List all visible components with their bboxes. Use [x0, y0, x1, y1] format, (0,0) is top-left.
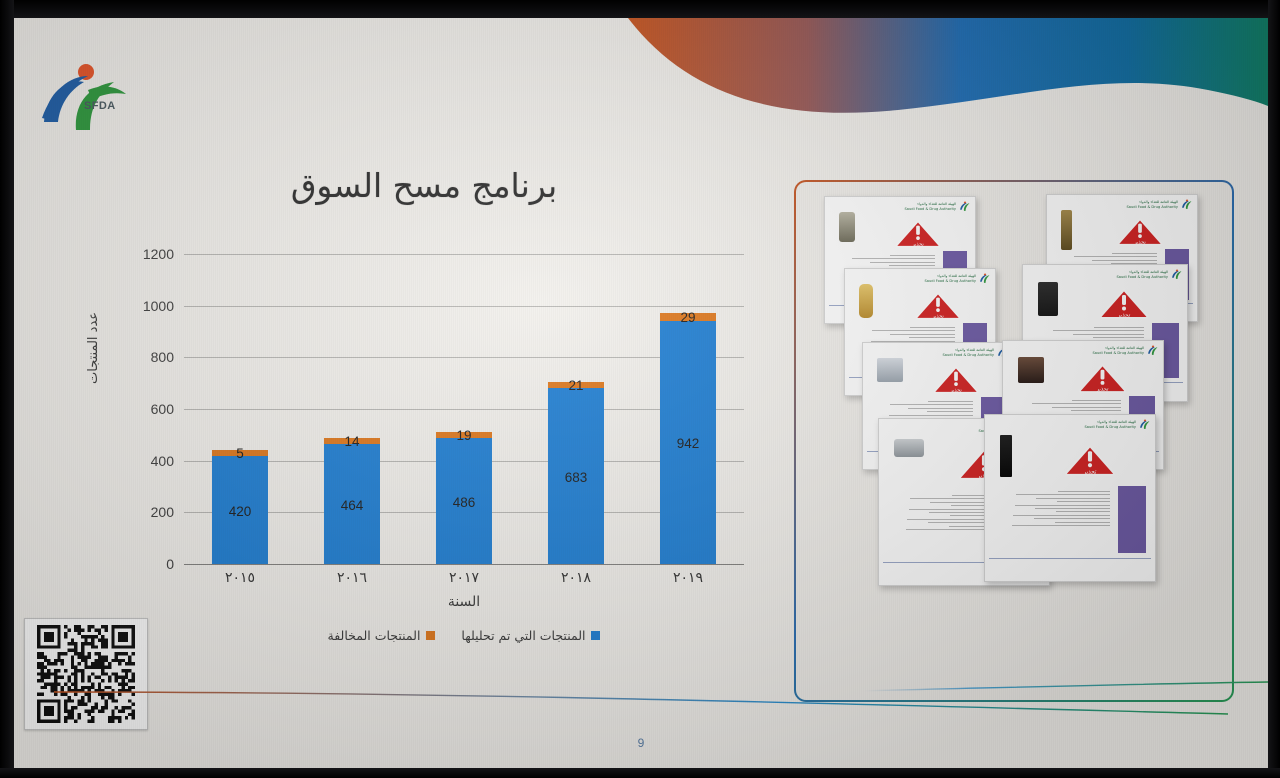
x-axis-label: السنة [184, 594, 744, 610]
monitor-bezel-top [0, 0, 1280, 18]
notice-authority-text: الهيئة العامة للغذاء والدواءSaudi Food &… [943, 348, 994, 357]
svg-text:تحذير: تحذير [911, 241, 924, 247]
sfda-mini-logo-icon [959, 201, 970, 212]
svg-text:تحذير: تحذير [1117, 313, 1131, 319]
y-axis-label: عدد المنتجات [86, 312, 101, 384]
bar-value-label-violating: 14 [318, 434, 385, 449]
monitor-bezel-bottom [0, 768, 1280, 778]
header-wave-decoration [568, 18, 1268, 128]
y-axis-tick-label: 1000 [143, 298, 184, 314]
x-axis-tick-label: ٢٠١٧ [404, 570, 524, 586]
notice-authority-text: الهيئة العامة للغذاء والدواءSaudi Food &… [1093, 346, 1144, 355]
notice-header: الهيئة العامة للغذاء والدواءSaudi Food &… [1085, 419, 1150, 430]
notice-authority-text: الهيئة العامة للغذاء والدواءSaudi Food &… [1127, 200, 1178, 209]
x-axis-tick-label: ٢٠١٦ [292, 570, 412, 586]
svg-text:تحذير: تحذير [1133, 239, 1146, 245]
x-axis-tick-label: ٢٠١٥ [180, 570, 300, 586]
warning-notices-collage: الهيئة العامة للغذاء والدواءSaudi Food &… [796, 182, 1232, 700]
svg-text:تحذير: تحذير [931, 313, 944, 319]
legend-item[interactable]: المنتجات التي تم تحليلها [461, 628, 600, 643]
legend-swatch-icon [426, 631, 435, 640]
notice-footer-rule [989, 558, 1151, 559]
notice-product-photo [1018, 357, 1044, 383]
legend-item[interactable]: المنتجات المخالفة [328, 628, 436, 643]
warning-triangle-icon: تحذير [1117, 217, 1163, 246]
photographed-screen: SFDA برنامج مسح السوق عدد المنتجات 02004… [0, 0, 1280, 778]
sfda-logo-text: SFDA [84, 100, 116, 112]
y-axis-tick-label: 200 [151, 504, 184, 520]
notice-authority-text: الهيئة العامة للغذاء والدواءSaudi Food &… [905, 202, 956, 211]
sfda-mini-logo-icon [1139, 419, 1150, 430]
warning-notice-card: الهيئة العامة للغذاء والدواءSaudi Food &… [984, 414, 1156, 582]
notice-authority-text: الهيئة العامة للغذاء والدواءSaudi Food &… [925, 274, 976, 283]
page-number: 9 [14, 736, 1268, 750]
warning-triangle-icon: تحذير [1064, 444, 1116, 476]
x-axis-tick-label: ٢٠١٩ [628, 570, 748, 586]
notice-header: الهيئة العامة للغذاء والدواءSaudi Food &… [1117, 269, 1182, 280]
notice-text-lines [995, 491, 1110, 528]
notice-header: الهيئة العامة للغذاء والدواءSaudi Food &… [905, 201, 970, 212]
svg-text:تحذير: تحذير [1083, 469, 1097, 475]
warning-triangle-icon: تحذير [933, 365, 979, 394]
legend-swatch-icon [591, 631, 600, 640]
notice-authority-text: الهيئة العامة للغذاء والدواءSaudi Food &… [1085, 420, 1136, 429]
gridline [184, 306, 744, 307]
market-survey-chart: عدد المنتجات 0200400600800100012004205٢٠… [74, 236, 774, 636]
sfda-mini-logo-icon [979, 273, 990, 284]
sfda-logo: SFDA [36, 60, 136, 138]
svg-text:تحذير: تحذير [1095, 387, 1109, 393]
y-axis-tick-label: 1200 [143, 246, 184, 262]
bar-value-label-violating: 29 [654, 310, 721, 325]
legend-label: المنتجات التي تم تحليلها [461, 628, 585, 643]
notice-product-photo [859, 284, 873, 318]
x-axis-tick-label: ٢٠١٨ [516, 570, 636, 586]
bar-value-label-analyzed: 683 [548, 470, 604, 485]
bar-value-label-analyzed: 420 [212, 504, 268, 519]
bar-value-label-analyzed: 942 [660, 436, 716, 451]
footer-sweep-line [14, 680, 1268, 728]
bar-value-label-analyzed: 464 [324, 498, 380, 513]
bar-value-label-violating: 5 [206, 446, 273, 461]
notice-authority-text: الهيئة العامة للغذاء والدواءSaudi Food &… [1117, 270, 1168, 279]
sfda-logo-mark [36, 60, 136, 138]
notice-header: الهيئة العامة للغذاء والدواءSaudi Food &… [943, 347, 1008, 358]
warning-triangle-icon: تحذير [1099, 288, 1149, 319]
sfda-mini-logo-icon [1181, 199, 1192, 210]
notice-header: الهيئة العامة للغذاء والدواءSaudi Food &… [1127, 199, 1192, 210]
sfda-mini-logo-icon [1147, 345, 1158, 356]
notice-product-photo [894, 439, 924, 457]
chart-plot-area: 0200400600800100012004205٢٠١٥46414٢٠١٦48… [184, 254, 744, 564]
warning-triangle-icon: تحذير [895, 219, 941, 248]
notice-product-photo [1061, 210, 1072, 250]
notice-product-photo [839, 212, 855, 242]
notice-product-photo [1000, 435, 1012, 477]
warning-triangle-icon: تحذير [1078, 363, 1127, 393]
presentation-slide: SFDA برنامج مسح السوق عدد المنتجات 02004… [14, 18, 1268, 768]
notice-fields-block [1118, 486, 1146, 553]
gridline [184, 254, 744, 255]
notice-header: الهيئة العامة للغذاء والدواءSaudi Food &… [1093, 345, 1158, 356]
chart-legend: المنتجات التي تم تحليلهاالمنتجات المخالف… [184, 628, 744, 643]
warning-notices-panel: الهيئة العامة للغذاء والدواءSaudi Food &… [794, 180, 1234, 702]
y-axis-tick-label: 600 [151, 401, 184, 417]
y-axis-tick-label: 400 [151, 453, 184, 469]
monitor-bezel-left [0, 0, 14, 778]
bar-value-label-analyzed: 486 [436, 495, 492, 510]
y-axis-tick-label: 800 [151, 349, 184, 365]
bar-value-label-violating: 21 [542, 378, 609, 393]
notice-product-photo [877, 358, 903, 382]
notice-header: الهيئة العامة للغذاء والدواءSaudi Food &… [925, 273, 990, 284]
monitor-bezel-right [1268, 0, 1280, 778]
warning-triangle-icon: تحذير [915, 291, 961, 320]
slide-title: برنامج مسح السوق [214, 166, 634, 205]
legend-label: المنتجات المخالفة [328, 628, 421, 643]
bar-value-label-violating: 19 [430, 428, 497, 443]
sfda-mini-logo-icon [1171, 269, 1182, 280]
x-axis-line [184, 564, 744, 565]
svg-text:تحذير: تحذير [949, 387, 962, 393]
notice-product-photo [1038, 282, 1058, 316]
